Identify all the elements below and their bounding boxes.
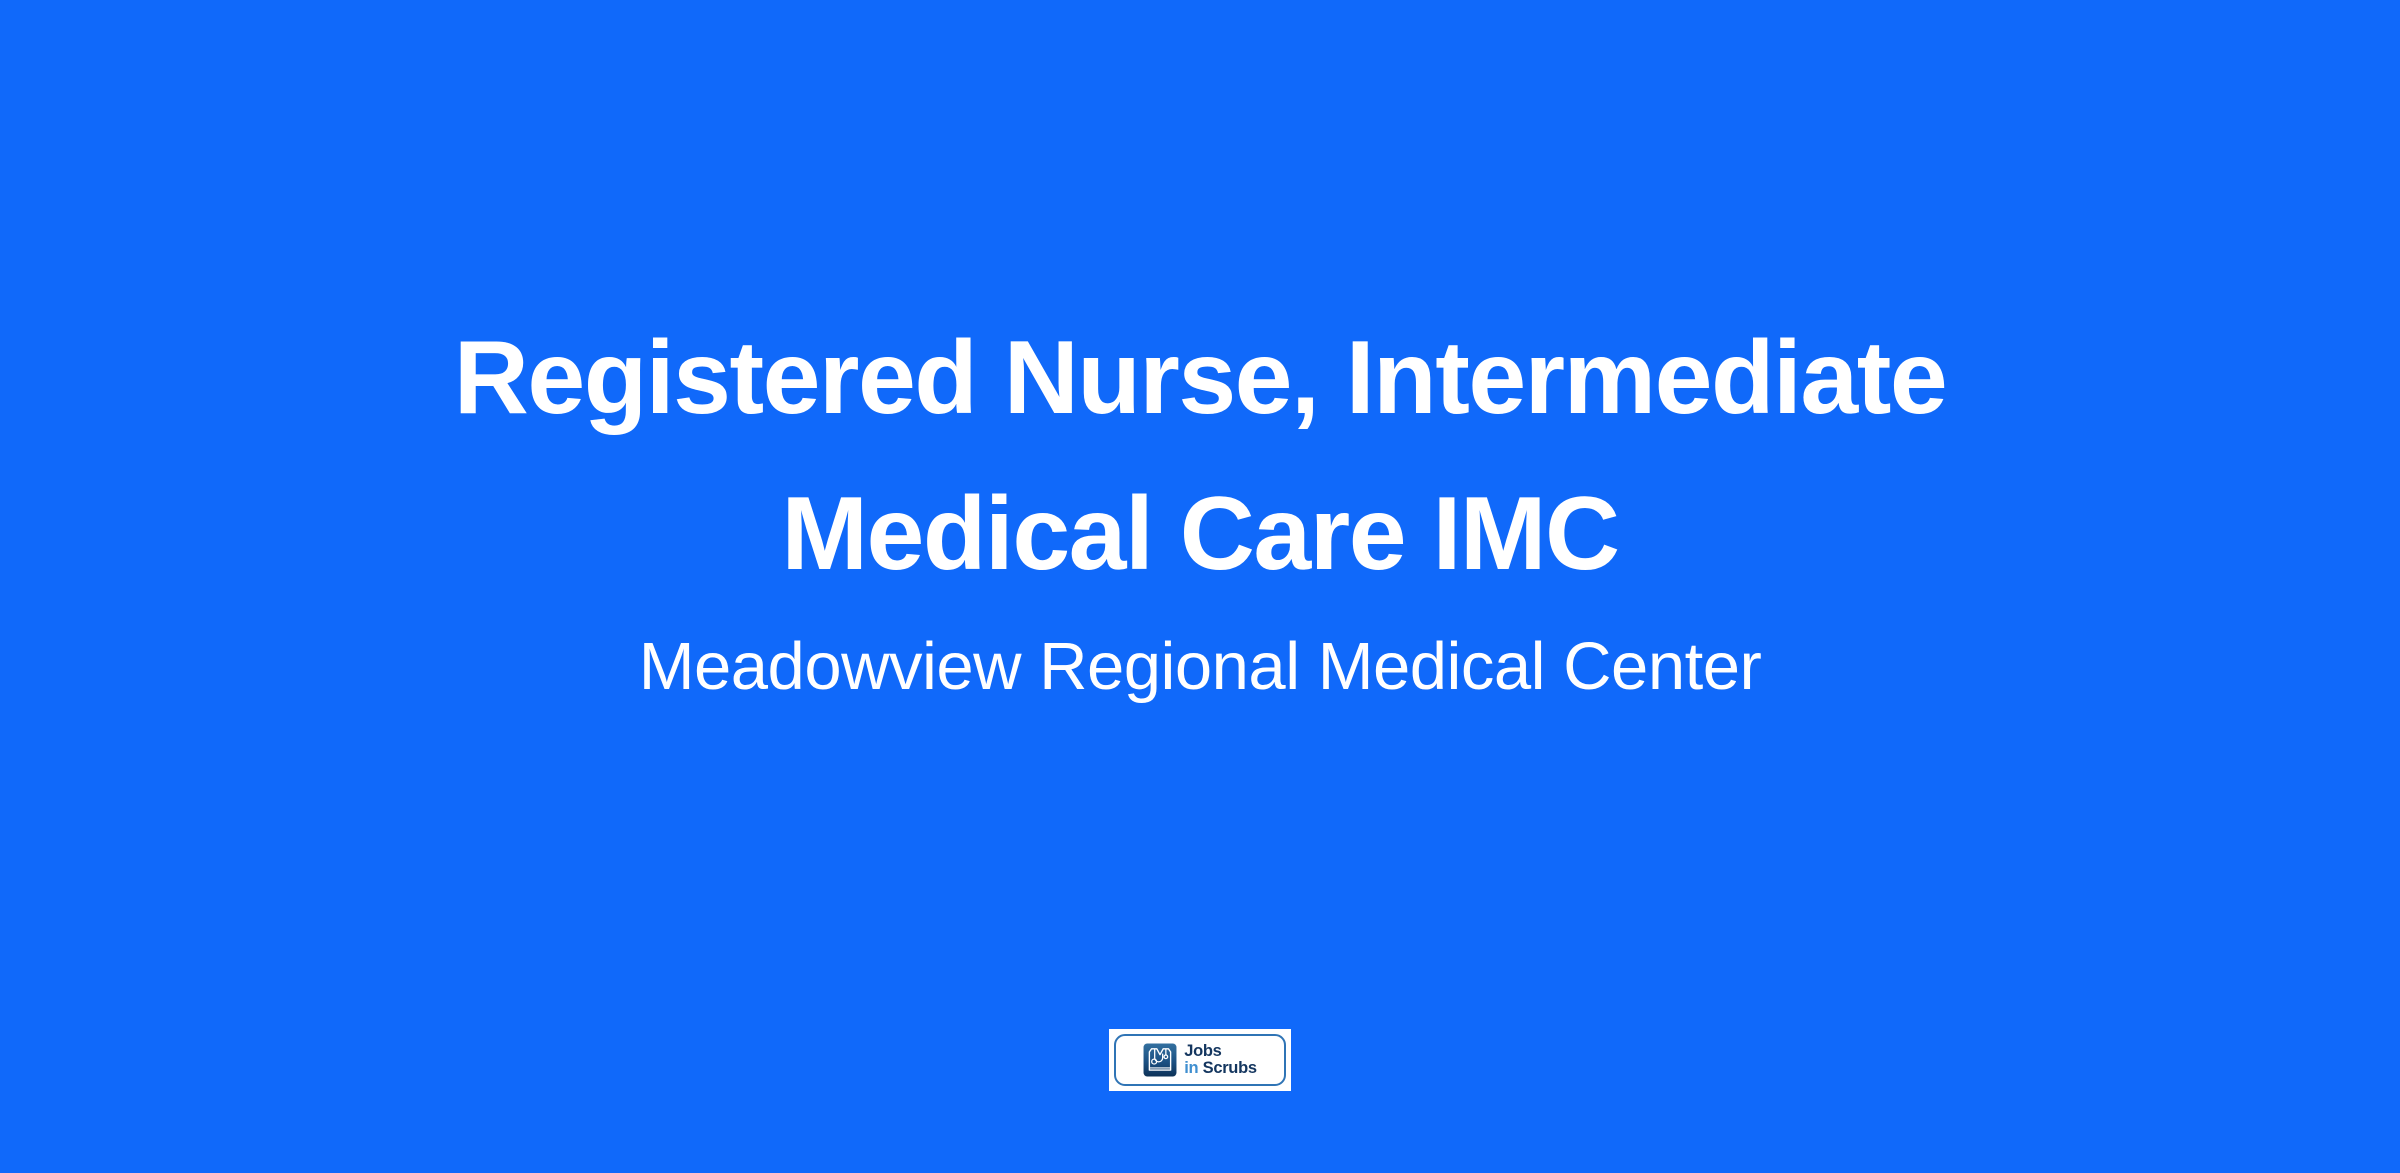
logo-wordmark-in: in (1184, 1059, 1198, 1077)
logo-wordmark-line-2: in Scrubs (1184, 1060, 1257, 1077)
scrubs-stethoscope-icon (1143, 1043, 1177, 1077)
brand-logo-badge[interactable]: Jobs in Scrubs (1109, 1029, 1291, 1091)
employer-name: Meadowview Regional Medical Center (320, 626, 2080, 708)
logo-wordmark-line-1: Jobs (1184, 1043, 1257, 1060)
job-share-card: Registered Nurse, Intermediate Medical C… (0, 0, 2400, 1173)
page-title: Registered Nurse, Intermediate Medical C… (320, 300, 2080, 612)
logo-inner-frame: Jobs in Scrubs (1114, 1034, 1286, 1086)
logo-wordmark: Jobs in Scrubs (1184, 1043, 1257, 1077)
logo-wordmark-scrubs: Scrubs (1203, 1059, 1257, 1077)
hero-text-block: Registered Nurse, Intermediate Medical C… (320, 300, 2080, 708)
